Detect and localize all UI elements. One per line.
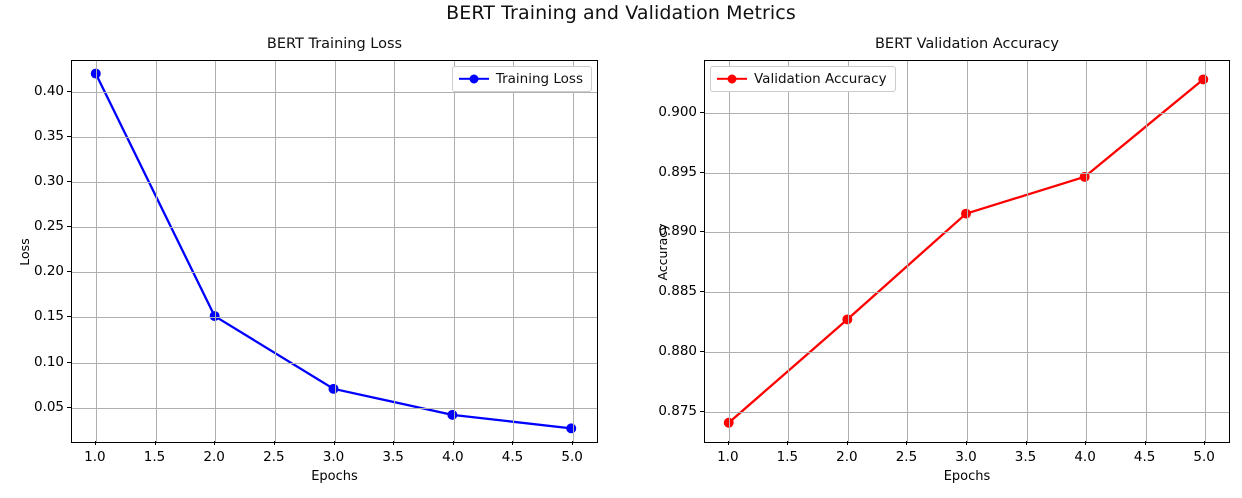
legend-label-training-loss: Training Loss bbox=[496, 71, 583, 87]
xtick-mark bbox=[214, 441, 215, 445]
gridline-vertical bbox=[215, 61, 216, 442]
xtick-label: 3.5 bbox=[1015, 449, 1036, 465]
xtick-label: 2.5 bbox=[896, 449, 917, 465]
ytick-label: 0.20 bbox=[34, 263, 64, 279]
ytick-mark bbox=[67, 136, 71, 137]
xtick-mark bbox=[787, 441, 788, 445]
xtick-mark bbox=[572, 441, 573, 445]
series-line bbox=[96, 74, 571, 429]
ytick-mark bbox=[67, 226, 71, 227]
xtick-label: 4.5 bbox=[502, 449, 523, 465]
gridline-horizontal bbox=[72, 317, 597, 318]
gridline-horizontal bbox=[705, 352, 1229, 353]
xtick-mark bbox=[334, 441, 335, 445]
gridline-horizontal bbox=[72, 363, 597, 364]
xtick-mark bbox=[393, 441, 394, 445]
gridline-vertical bbox=[1146, 61, 1147, 442]
xtick-label: 5.0 bbox=[1193, 449, 1214, 465]
plot-area-validation-accuracy bbox=[704, 60, 1230, 443]
gridline-horizontal bbox=[72, 182, 597, 183]
xtick-label: 2.0 bbox=[836, 449, 857, 465]
xaxis-label-training-loss: Epochs bbox=[71, 469, 598, 484]
ytick-mark bbox=[67, 91, 71, 92]
ytick-mark bbox=[67, 316, 71, 317]
xtick-label: 5.0 bbox=[561, 449, 582, 465]
subplot-training-loss: BERT Training Loss 1.01.52.02.53.03.54.0… bbox=[71, 60, 598, 443]
subplot-title-training-loss: BERT Training Loss bbox=[71, 36, 598, 52]
legend-validation-accuracy[interactable]: Validation Accuracy bbox=[710, 66, 896, 92]
xtick-label: 4.0 bbox=[442, 449, 463, 465]
gridline-horizontal bbox=[72, 272, 597, 273]
gridline-vertical bbox=[907, 61, 908, 442]
xtick-label: 1.0 bbox=[717, 449, 738, 465]
ytick-label: 0.35 bbox=[34, 128, 64, 144]
legend-marker-training-loss bbox=[459, 73, 489, 85]
ytick-label: 0.30 bbox=[34, 173, 64, 189]
gridline-horizontal bbox=[72, 137, 597, 138]
xtick-mark bbox=[274, 441, 275, 445]
subplot-validation-accuracy: BERT Validation Accuracy 1.01.52.02.53.0… bbox=[704, 60, 1230, 443]
xtick-label: 1.0 bbox=[84, 449, 105, 465]
gridline-vertical bbox=[1205, 61, 1206, 442]
figure-canvas: BERT Training and Validation Metrics BER… bbox=[0, 0, 1242, 498]
xtick-label: 4.5 bbox=[1134, 449, 1155, 465]
yaxis-label-training-loss: Loss bbox=[17, 238, 32, 265]
ytick-mark bbox=[67, 271, 71, 272]
xtick-label: 1.5 bbox=[777, 449, 798, 465]
gridline-vertical bbox=[788, 61, 789, 442]
data-point-marker bbox=[447, 410, 457, 420]
ytick-mark bbox=[700, 112, 704, 113]
gridline-vertical bbox=[729, 61, 730, 442]
ytick-mark bbox=[700, 291, 704, 292]
data-point-marker bbox=[1198, 74, 1208, 84]
gridline-vertical bbox=[454, 61, 455, 442]
xtick-mark bbox=[453, 441, 454, 445]
xtick-mark bbox=[1145, 441, 1146, 445]
data-point-marker bbox=[329, 384, 339, 394]
xtick-mark bbox=[1085, 441, 1086, 445]
gridline-horizontal bbox=[705, 292, 1229, 293]
ytick-label: 0.05 bbox=[34, 399, 64, 415]
gridline-vertical bbox=[848, 61, 849, 442]
ytick-label: 0.895 bbox=[658, 164, 697, 180]
ytick-mark bbox=[67, 362, 71, 363]
xtick-label: 3.0 bbox=[323, 449, 344, 465]
ytick-label: 0.885 bbox=[658, 283, 697, 299]
plot-area-training-loss bbox=[71, 60, 598, 443]
gridline-vertical bbox=[967, 61, 968, 442]
xtick-mark bbox=[1204, 441, 1205, 445]
legend-label-validation-accuracy: Validation Accuracy bbox=[754, 71, 887, 87]
xtick-label: 2.5 bbox=[263, 449, 284, 465]
subplot-title-validation-accuracy: BERT Validation Accuracy bbox=[704, 36, 1230, 52]
gridline-vertical bbox=[394, 61, 395, 442]
gridline-horizontal bbox=[705, 412, 1229, 413]
xtick-label: 4.0 bbox=[1074, 449, 1095, 465]
xtick-mark bbox=[728, 441, 729, 445]
xtick-mark bbox=[512, 441, 513, 445]
legend-training-loss[interactable]: Training Loss bbox=[452, 66, 592, 92]
xtick-label: 3.0 bbox=[955, 449, 976, 465]
xtick-mark bbox=[1026, 441, 1027, 445]
gridline-horizontal bbox=[72, 227, 597, 228]
xtick-label: 1.5 bbox=[144, 449, 165, 465]
gridline-vertical bbox=[275, 61, 276, 442]
figure-suptitle: BERT Training and Validation Metrics bbox=[0, 2, 1242, 24]
gridline-horizontal bbox=[705, 232, 1229, 233]
ytick-label: 0.900 bbox=[658, 104, 697, 120]
ytick-mark bbox=[700, 411, 704, 412]
gridline-vertical bbox=[1027, 61, 1028, 442]
ytick-label: 0.880 bbox=[658, 343, 697, 359]
ytick-mark bbox=[67, 407, 71, 408]
gridline-vertical bbox=[1086, 61, 1087, 442]
ytick-mark bbox=[700, 351, 704, 352]
gridline-horizontal bbox=[705, 173, 1229, 174]
gridline-vertical bbox=[573, 61, 574, 442]
ytick-label: 0.25 bbox=[34, 218, 64, 234]
series-line bbox=[729, 79, 1204, 422]
xtick-mark bbox=[155, 441, 156, 445]
data-point-marker bbox=[566, 423, 576, 433]
ytick-label: 0.40 bbox=[34, 83, 64, 99]
xtick-label: 3.5 bbox=[382, 449, 403, 465]
xtick-mark bbox=[847, 441, 848, 445]
ytick-mark bbox=[700, 172, 704, 173]
gridline-vertical bbox=[156, 61, 157, 442]
xtick-mark bbox=[966, 441, 967, 445]
xtick-label: 2.0 bbox=[203, 449, 224, 465]
gridline-vertical bbox=[335, 61, 336, 442]
ytick-label: 0.875 bbox=[658, 403, 697, 419]
gridline-vertical bbox=[96, 61, 97, 442]
gridline-horizontal bbox=[705, 113, 1229, 114]
gridline-horizontal bbox=[72, 408, 597, 409]
ytick-mark bbox=[700, 231, 704, 232]
data-point-marker bbox=[961, 209, 971, 219]
xtick-mark bbox=[95, 441, 96, 445]
xtick-mark bbox=[906, 441, 907, 445]
ytick-label: 0.15 bbox=[34, 308, 64, 324]
ytick-label: 0.10 bbox=[34, 354, 64, 370]
gridline-vertical bbox=[513, 61, 514, 442]
xaxis-label-validation-accuracy: Epochs bbox=[704, 469, 1230, 484]
legend-marker-validation-accuracy bbox=[717, 73, 747, 85]
yaxis-label-validation-accuracy: Accuracy bbox=[655, 223, 670, 280]
ytick-mark bbox=[67, 181, 71, 182]
